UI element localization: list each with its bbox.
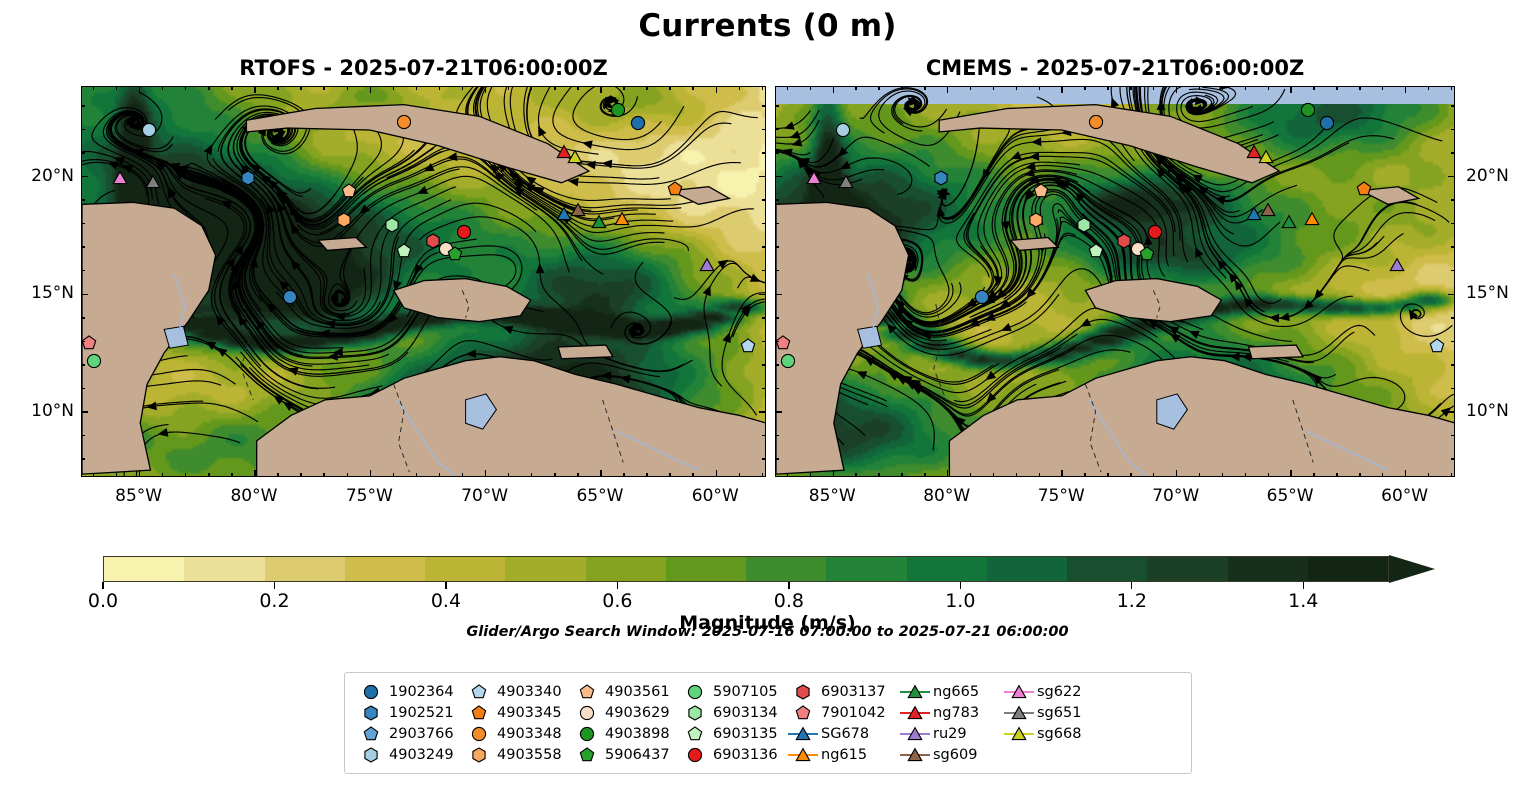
legend-label: 1902364 <box>389 684 454 700</box>
colorbar-tick <box>960 582 961 589</box>
x-tick-minor <box>554 86 555 90</box>
x-tick-minor <box>231 86 232 90</box>
legend-item-6903134[interactable]: 6903134 <box>679 702 787 723</box>
platform-marker-sg651[interactable] <box>145 174 161 194</box>
legend-label: 6903136 <box>713 747 778 763</box>
y-tick-major <box>775 411 782 412</box>
x-tick-label: 75°W <box>346 486 393 506</box>
x-tick-major <box>600 470 601 477</box>
y-tick-minor <box>762 223 766 224</box>
x-tick-major <box>1176 86 1177 93</box>
x-tick-minor <box>855 86 856 90</box>
landmass-jamaica <box>1011 238 1059 251</box>
y-tick-minor <box>81 341 85 342</box>
x-tick-minor <box>901 473 902 477</box>
x-tick-minor <box>878 473 879 477</box>
platform-marker-4903340[interactable] <box>740 338 756 358</box>
x-tick-label: 70°W <box>1152 486 1199 506</box>
x-tick-minor <box>1039 86 1040 90</box>
y-tick-minor <box>81 270 85 271</box>
x-tick-minor <box>970 86 971 90</box>
x-tick-minor <box>508 473 509 477</box>
legend-item-5907105[interactable]: 5907105 <box>679 681 787 702</box>
x-tick-minor <box>462 473 463 477</box>
legend-item-4903898[interactable]: 4903898 <box>571 723 679 744</box>
x-tick-minor <box>669 86 670 90</box>
colorbar-segment-12 <box>1067 557 1147 581</box>
x-tick-minor <box>1451 86 1452 90</box>
legend-item-4903629[interactable]: 4903629 <box>571 702 679 723</box>
panel-title-cmems: CMEMS - 2025-07-21T06:00:00Z <box>775 56 1455 80</box>
y-tick-minor <box>775 152 779 153</box>
platform-legend[interactable]: 1902364190252129037664903249490334049033… <box>344 672 1192 774</box>
x-tick-minor <box>439 86 440 90</box>
x-tick-minor <box>1382 86 1383 90</box>
x-tick-minor <box>208 86 209 90</box>
x-tick-minor <box>1359 86 1360 90</box>
platform-marker-5907105[interactable] <box>780 353 796 373</box>
y-tick-minor <box>775 129 779 130</box>
x-tick-minor <box>739 473 740 477</box>
x-tick-minor <box>531 473 532 477</box>
x-tick-minor <box>231 473 232 477</box>
platform-marker-4903249[interactable] <box>141 122 157 142</box>
legend-marker-triangle-icon <box>899 702 933 723</box>
y-tick-minor <box>762 152 766 153</box>
y-tick-minor <box>775 458 779 459</box>
x-tick-minor <box>554 473 555 477</box>
y-tick-major <box>81 294 88 295</box>
x-tick-minor <box>393 473 394 477</box>
legend-marker-circle-icon <box>355 681 389 702</box>
y-tick-label-right: 15°N <box>1466 283 1509 303</box>
y-tick-major <box>775 176 782 177</box>
y-tick-minor <box>1451 223 1455 224</box>
y-tick-minor <box>81 223 85 224</box>
x-tick-major <box>254 86 255 93</box>
colorbar-tick-label: 1.4 <box>1288 590 1318 612</box>
x-tick-minor <box>1428 473 1429 477</box>
legend-label: 4903558 <box>497 747 562 763</box>
y-tick-minor <box>762 458 766 459</box>
search-window-caption: Glider/Argo Search Window: 2025-07-16 07… <box>0 624 1535 640</box>
legend-column-1: 4903340490334549033484903558 <box>463 681 571 765</box>
platform-marker-sg651[interactable] <box>838 174 854 194</box>
legend-label: 6903137 <box>821 684 886 700</box>
legend-item-6903135[interactable]: 6903135 <box>679 723 787 744</box>
platform-marker-sg609[interactable] <box>1260 202 1276 222</box>
legend-marker-circle-icon <box>463 723 497 744</box>
platform-marker-4903345[interactable] <box>667 181 683 201</box>
y-tick-minor <box>762 341 766 342</box>
landmass-central-america <box>776 202 909 474</box>
x-tick-minor <box>1016 473 1017 477</box>
legend-marker-pentagon-icon <box>679 723 713 744</box>
x-tick-minor <box>901 86 902 90</box>
y-tick-minor <box>1451 246 1455 247</box>
platform-marker-4903345[interactable] <box>1356 181 1372 201</box>
legend-item-ng615[interactable]: ng615 <box>787 744 899 765</box>
legend-label: 4903898 <box>605 726 670 742</box>
x-tick-major <box>1405 86 1406 93</box>
x-tick-major <box>947 86 948 93</box>
x-tick-label: 60°W <box>692 486 739 506</box>
colorbar-tick <box>1303 582 1304 589</box>
x-tick-major <box>254 470 255 477</box>
x-tick-minor <box>1359 473 1360 477</box>
platform-marker-4903348[interactable] <box>1088 114 1104 134</box>
legend-item-6903136[interactable]: 6903136 <box>679 744 787 765</box>
x-tick-major <box>600 86 601 93</box>
y-tick-minor <box>762 317 766 318</box>
x-tick-minor <box>185 473 186 477</box>
y-tick-minor <box>775 105 779 106</box>
y-tick-minor <box>1451 152 1455 153</box>
x-tick-minor <box>623 86 624 90</box>
x-tick-minor <box>924 86 925 90</box>
y-tick-label-right: 20°N <box>1466 166 1509 186</box>
x-tick-minor <box>1084 473 1085 477</box>
legend-item-ng783[interactable]: ng783 <box>899 702 1003 723</box>
y-tick-major <box>759 294 766 295</box>
legend-marker-triangle-icon <box>1003 723 1037 744</box>
y-tick-minor <box>81 105 85 106</box>
x-tick-minor <box>1107 86 1108 90</box>
colorbar-segment-9 <box>826 557 906 581</box>
y-tick-minor <box>1451 388 1455 389</box>
legend-item-sg668[interactable]: sg668 <box>1003 723 1103 744</box>
legend-label: sg668 <box>1037 726 1081 742</box>
platform-marker-4903249[interactable] <box>835 122 851 142</box>
colorbar-segment-10 <box>907 557 987 581</box>
legend-label: 5907105 <box>713 684 778 700</box>
platform-marker-ng665[interactable] <box>1281 214 1297 234</box>
platform-marker-ng615[interactable] <box>1304 211 1320 231</box>
x-tick-minor <box>1336 473 1337 477</box>
x-tick-major <box>485 470 486 477</box>
legend-column-6: sg622sg651sg668 <box>1003 681 1103 765</box>
x-tick-minor <box>787 473 788 477</box>
platform-marker-6903134[interactable] <box>1076 217 1092 237</box>
y-tick-major <box>1448 294 1455 295</box>
platform-marker-5906437[interactable] <box>1139 246 1155 266</box>
legend-label: ng665 <box>933 684 979 700</box>
x-tick-minor <box>416 86 417 90</box>
y-tick-major <box>759 176 766 177</box>
x-tick-minor <box>277 86 278 90</box>
x-tick-minor <box>577 473 578 477</box>
x-tick-minor <box>1107 473 1108 477</box>
x-tick-minor <box>646 473 647 477</box>
y-tick-minor <box>81 458 85 459</box>
platform-marker-5907105[interactable] <box>86 353 102 373</box>
legend-item-1902364[interactable]: 1902364 <box>355 681 463 702</box>
y-tick-major <box>775 294 782 295</box>
y-tick-label-left: 10°N <box>31 401 74 421</box>
map-panel-cmems[interactable] <box>775 86 1455 477</box>
legend-item-sg609[interactable]: sg609 <box>899 744 1003 765</box>
colorbar-tick <box>617 582 618 589</box>
y-tick-label-right: 10°N <box>1466 401 1509 421</box>
legend-item-4903348[interactable]: 4903348 <box>463 723 571 744</box>
landmass-cuba <box>939 105 1279 183</box>
y-tick-minor <box>762 199 766 200</box>
x-tick-label: 80°W <box>230 486 277 506</box>
legend-item-4903345[interactable]: 4903345 <box>463 702 571 723</box>
x-tick-major <box>1290 470 1291 477</box>
x-tick-minor <box>1084 86 1085 90</box>
map-panel-rtofs[interactable] <box>81 86 766 477</box>
national-border-0 <box>241 304 253 400</box>
y-tick-minor <box>775 364 779 365</box>
x-tick-label: 75°W <box>1038 486 1085 506</box>
landmass-south-america <box>257 357 766 477</box>
y-tick-major <box>81 411 88 412</box>
y-tick-minor <box>775 435 779 436</box>
legend-label: 4903348 <box>497 726 562 742</box>
x-tick-minor <box>1313 473 1314 477</box>
legend-marker-triangle-icon <box>787 723 821 744</box>
legend-item-4903340[interactable]: 4903340 <box>463 681 571 702</box>
x-tick-major <box>1061 86 1062 93</box>
platform-marker-4903348[interactable] <box>396 114 412 134</box>
legend-label: 6903135 <box>713 726 778 742</box>
x-tick-minor <box>692 86 693 90</box>
y-tick-minor <box>762 129 766 130</box>
platform-marker-1902364[interactable] <box>630 115 646 135</box>
y-tick-minor <box>762 435 766 436</box>
platform-marker-sg609[interactable] <box>570 202 586 222</box>
colorbar-segment-6 <box>586 557 666 581</box>
x-tick-minor <box>1199 86 1200 90</box>
y-tick-minor <box>81 317 85 318</box>
legend-label: ng783 <box>933 705 979 721</box>
landmass-south-america <box>949 357 1455 477</box>
colorbar-tick-label: 1.2 <box>1117 590 1147 612</box>
x-tick-minor <box>993 473 994 477</box>
platform-marker-ru29[interactable] <box>1389 257 1405 277</box>
platform-marker-sg622[interactable] <box>112 170 128 190</box>
platform-marker-4903558[interactable] <box>336 212 352 232</box>
platform-marker-5906437[interactable] <box>447 246 463 266</box>
colorbar <box>103 556 1433 582</box>
legend-label: ng615 <box>821 747 867 763</box>
national-border-0 <box>934 304 946 400</box>
y-tick-minor <box>1451 129 1455 130</box>
x-tick-minor <box>669 473 670 477</box>
y-tick-minor <box>81 152 85 153</box>
legend-label: 2903766 <box>389 726 454 742</box>
platform-marker-6903135[interactable] <box>396 243 412 263</box>
x-tick-major <box>716 86 717 93</box>
x-tick-minor <box>762 473 763 477</box>
legend-label: 4903340 <box>497 684 562 700</box>
x-tick-major <box>1405 470 1406 477</box>
x-tick-label: 60°W <box>1381 486 1428 506</box>
platform-marker-sg622[interactable] <box>806 170 822 190</box>
x-tick-minor <box>277 473 278 477</box>
platform-marker-sg668[interactable] <box>1258 149 1274 169</box>
colorbar-segment-14 <box>1228 557 1308 581</box>
x-tick-minor <box>323 473 324 477</box>
x-tick-minor <box>116 473 117 477</box>
platform-marker-6903136[interactable] <box>1147 224 1163 244</box>
x-tick-minor <box>1130 473 1131 477</box>
x-tick-minor <box>162 473 163 477</box>
legend-item-4903561[interactable]: 4903561 <box>571 681 679 702</box>
colorbar-segment-3 <box>345 557 425 581</box>
legend-marker-triangle-icon <box>899 744 933 765</box>
x-tick-major <box>1176 470 1177 477</box>
y-tick-minor <box>81 435 85 436</box>
colorbar-segment-4 <box>425 557 505 581</box>
legend-label: 5906437 <box>605 747 670 763</box>
platform-marker-1902521[interactable] <box>933 170 949 190</box>
legend-marker-pentagon-icon <box>463 702 497 723</box>
figure-suptitle: Currents (0 m) <box>0 8 1535 44</box>
x-tick-minor <box>93 86 94 90</box>
platform-marker-1902364b[interactable] <box>282 289 298 309</box>
platform-marker-6903134[interactable] <box>384 217 400 237</box>
y-tick-minor <box>1451 458 1455 459</box>
colorbar-segment-13 <box>1147 557 1227 581</box>
x-tick-label: 85°W <box>115 486 162 506</box>
legend-item-4903249[interactable]: 4903249 <box>355 744 463 765</box>
legend-item-SG678[interactable]: SG678 <box>787 723 899 744</box>
y-tick-major <box>1448 411 1455 412</box>
legend-label: 4903629 <box>605 705 670 721</box>
legend-marker-circle-icon <box>679 681 713 702</box>
x-tick-label: 70°W <box>461 486 508 506</box>
legend-item-1902521[interactable]: 1902521 <box>355 702 463 723</box>
x-tick-minor <box>810 473 811 477</box>
y-tick-major <box>759 411 766 412</box>
legend-marker-pentagon-icon <box>463 681 497 702</box>
legend-item-5906437[interactable]: 5906437 <box>571 744 679 765</box>
x-tick-minor <box>1268 473 1269 477</box>
y-tick-minor <box>762 246 766 247</box>
legend-label: 4903345 <box>497 705 562 721</box>
x-tick-minor <box>924 473 925 477</box>
y-tick-major <box>81 176 88 177</box>
x-tick-minor <box>810 86 811 90</box>
colorbar-segment-8 <box>746 557 826 581</box>
legend-label: sg609 <box>933 747 977 763</box>
legend-column-0: 1902364190252129037664903249 <box>355 681 463 765</box>
legend-item-ru29[interactable]: ru29 <box>899 723 1003 744</box>
platform-marker-ng615[interactable] <box>614 211 630 231</box>
x-tick-minor <box>347 473 348 477</box>
y-tick-minor <box>762 270 766 271</box>
x-tick-minor <box>970 473 971 477</box>
legend-item-sg622[interactable]: sg622 <box>1003 681 1103 702</box>
x-tick-major <box>139 86 140 93</box>
legend-marker-triangle-icon <box>899 681 933 702</box>
platform-marker-sg668[interactable] <box>567 149 583 169</box>
legend-marker-hexagon-icon <box>679 702 713 723</box>
landmass-puerto-rico <box>558 345 613 359</box>
colorbar-tick <box>274 582 275 589</box>
y-tick-minor <box>81 388 85 389</box>
x-tick-major <box>139 470 140 477</box>
legend-marker-hexagon-icon <box>355 702 389 723</box>
x-tick-minor <box>462 86 463 90</box>
x-tick-minor <box>787 86 788 90</box>
legend-marker-triangle-icon <box>899 723 933 744</box>
x-tick-minor <box>347 86 348 90</box>
legend-item-2903766[interactable]: 2903766 <box>355 723 463 744</box>
legend-item-sg651[interactable]: sg651 <box>1003 702 1103 723</box>
x-tick-major <box>833 470 834 477</box>
landmass-puerto-rico <box>1249 345 1303 359</box>
x-tick-minor <box>1268 86 1269 90</box>
y-tick-minor <box>775 246 779 247</box>
x-tick-minor <box>855 473 856 477</box>
platform-marker-4903340[interactable] <box>1429 338 1445 358</box>
legend-item-7901042[interactable]: 7901042 <box>787 702 899 723</box>
legend-item-6903137[interactable]: 6903137 <box>787 681 899 702</box>
colorbar-tick <box>788 582 789 589</box>
y-tick-minor <box>81 129 85 130</box>
y-tick-label-left: 20°N <box>31 166 74 186</box>
legend-label: SG678 <box>821 726 869 742</box>
y-tick-minor <box>1451 199 1455 200</box>
x-tick-minor <box>508 86 509 90</box>
platform-marker-4903561[interactable] <box>341 183 357 203</box>
platform-marker-4903558[interactable] <box>1028 212 1044 232</box>
platform-marker-4903898[interactable] <box>610 102 626 122</box>
platform-marker-6903136[interactable] <box>456 224 472 244</box>
platform-marker-ru29[interactable] <box>699 257 715 277</box>
x-tick-minor <box>1153 86 1154 90</box>
x-tick-minor <box>439 473 440 477</box>
legend-item-ng665[interactable]: ng665 <box>899 681 1003 702</box>
x-tick-minor <box>1222 473 1223 477</box>
legend-marker-circle-icon <box>571 723 605 744</box>
x-tick-minor <box>1016 86 1017 90</box>
y-tick-major <box>1448 176 1455 177</box>
legend-label: 6903134 <box>713 705 778 721</box>
platform-marker-1902521[interactable] <box>240 170 256 190</box>
x-tick-minor <box>1451 473 1452 477</box>
platform-marker-1902364[interactable] <box>1319 115 1335 135</box>
legend-marker-hexagon-icon <box>463 744 497 765</box>
y-tick-minor <box>775 341 779 342</box>
y-tick-minor <box>775 317 779 318</box>
legend-label: sg622 <box>1037 684 1081 700</box>
legend-item-4903558[interactable]: 4903558 <box>463 744 571 765</box>
platform-marker-4903561[interactable] <box>1033 183 1049 203</box>
y-tick-minor <box>1451 270 1455 271</box>
x-tick-minor <box>531 86 532 90</box>
platform-marker-6903135[interactable] <box>1088 243 1104 263</box>
colorbar-segment-1 <box>184 557 264 581</box>
y-tick-minor <box>1451 364 1455 365</box>
platform-marker-1902364b[interactable] <box>974 289 990 309</box>
platform-marker-ng665[interactable] <box>591 214 607 234</box>
x-tick-major <box>716 470 717 477</box>
platform-marker-4903898[interactable] <box>1300 102 1316 122</box>
legend-marker-triangle-icon <box>787 744 821 765</box>
x-tick-major <box>833 86 834 93</box>
x-tick-minor <box>993 86 994 90</box>
x-tick-major <box>1290 86 1291 93</box>
colorbar-tick-label: 0.0 <box>88 590 118 612</box>
x-tick-minor <box>1245 86 1246 90</box>
colorbar-tick <box>102 582 103 589</box>
legend-marker-triangle-icon <box>1003 702 1037 723</box>
colorbar-segment-0 <box>104 557 184 581</box>
